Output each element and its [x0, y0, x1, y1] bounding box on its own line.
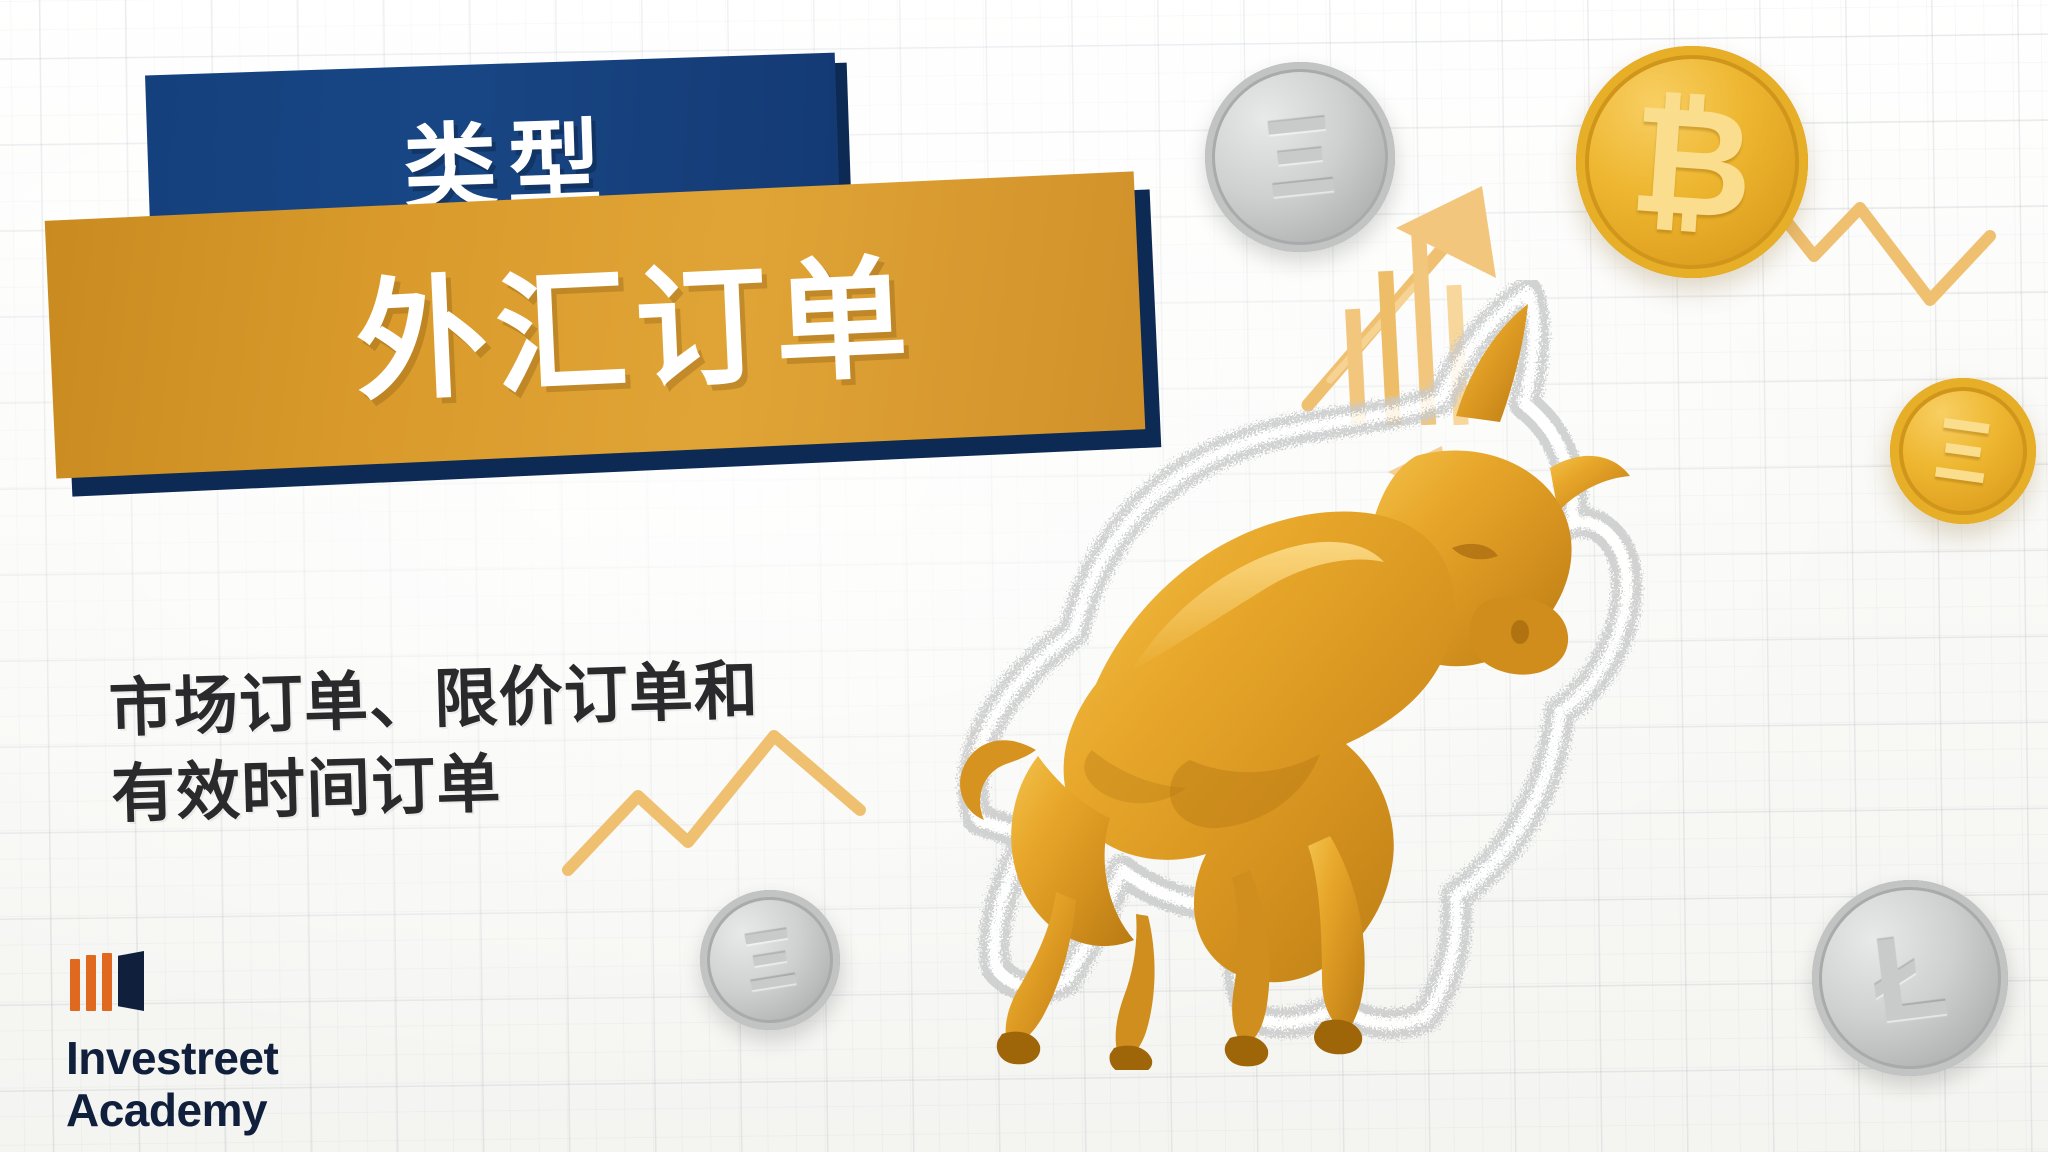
logo-line-2: Academy	[66, 1085, 406, 1137]
logo-page-shape	[118, 951, 144, 1011]
investreet-academy-logo: Investreet Academy	[66, 955, 406, 1136]
ethereum-symbol: Ξ	[1260, 100, 1340, 215]
banner-canvas: Ξ ₿ Ξ Ξ Ł 类型 外汇订单 市场订单、限价订单和 有效时间订单 Inve	[0, 0, 2048, 1152]
bitcoin-symbol: ₿	[1626, 83, 1758, 241]
subtitle-line-1: 市场订单、限价订单和	[108, 654, 760, 744]
title-ribbon-gold: 外汇订单	[45, 171, 1146, 478]
logo-book-mark-icon	[70, 955, 406, 1011]
litecoin-symbol: Ł	[1867, 915, 1953, 1041]
title-ribbon-stack: 类型 外汇订单	[0, 0, 1200, 640]
subtitle-block: 市场订单、限价订单和 有效时间订单	[108, 644, 932, 838]
logo-line-1: Investreet	[66, 1033, 406, 1085]
main-title-label: 外汇订单	[351, 211, 919, 427]
ethereum-symbol-gold: Ξ	[1930, 405, 1997, 498]
ethereum-symbol-bottom: Ξ	[738, 916, 801, 1003]
logo-wordmark: Investreet Academy	[66, 1033, 406, 1136]
